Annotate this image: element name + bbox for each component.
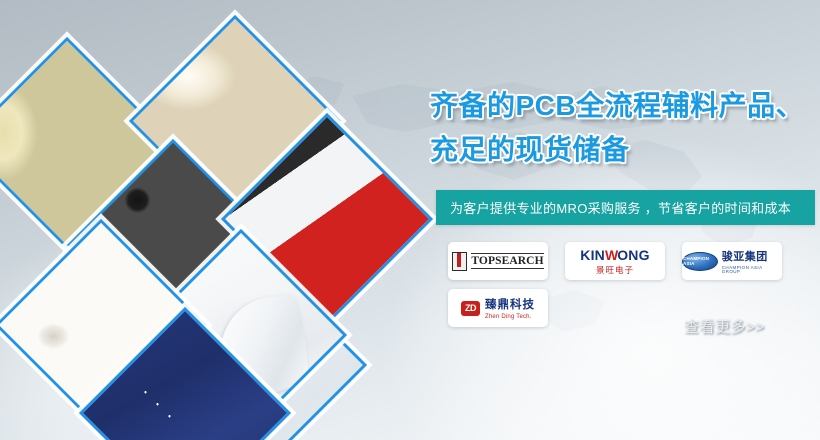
champion-asia-globe-text: CHAMPION ASIA	[683, 256, 717, 266]
champion-asia-chinese-name: 骏亚集团	[722, 248, 782, 264]
kinwong-wordmark: KINWONG	[580, 247, 649, 263]
kinwong-ong: ONG	[617, 247, 650, 263]
kinwong-kin: KIN	[580, 247, 605, 263]
view-more-link[interactable]: 查看更多>>	[684, 316, 765, 337]
partner-logo-champion-asia[interactable]: CHAMPION ASIA 骏亚集团 CHAMPION ASIA GROUP	[682, 242, 782, 280]
banner-subtitle-text: 为客户提供专业的MRO采购服务 ，节省客户的时间和成本	[436, 198, 791, 217]
partner-logo-zhen-ding[interactable]: ZD 臻鼎科技 Zhen Ding Tech.	[448, 289, 548, 327]
banner-subtitle-bar: 为客户提供专业的MRO采购服务 ，节省客户的时间和成本	[436, 190, 815, 225]
champion-asia-english-name: CHAMPION ASIA GROUP	[722, 266, 782, 275]
zhen-ding-chinese-name: 臻鼎科技	[485, 296, 535, 312]
partner-logo-row-1: TOPSEARCH KINWONG 景旺电子 CHAMPION ASIA 骏亚集…	[448, 242, 820, 280]
product-collage: JIE	[0, 0, 420, 440]
champion-asia-globe-icon: CHAMPION ASIA	[682, 252, 718, 271]
partner-logo-topsearch[interactable]: TOPSEARCH	[448, 242, 548, 280]
kinwong-w-icon: W	[605, 247, 617, 263]
zhen-ding-square-icon: ZD	[461, 301, 480, 316]
partner-logo-kinwong[interactable]: KINWONG 景旺电子	[565, 242, 665, 280]
headline-line-2: 充足的现货储备	[430, 128, 820, 172]
zhen-ding-english-name: Zhen Ding Tech.	[485, 314, 535, 320]
banner-headline: 齐备的PCB全流程辅料产品、 充足的现货储备	[430, 84, 820, 172]
topsearch-i-mark-icon	[452, 252, 467, 271]
promo-banner: JIE 齐备的PCB全流程辅料产品、 充足的现货储备 为客户提供专业的MRO采购…	[0, 0, 820, 440]
topsearch-wordmark: TOPSEARCH	[471, 253, 543, 269]
kinwong-chinese-name: 景旺电子	[580, 266, 649, 275]
headline-line-1: 齐备的PCB全流程辅料产品、	[430, 90, 804, 121]
